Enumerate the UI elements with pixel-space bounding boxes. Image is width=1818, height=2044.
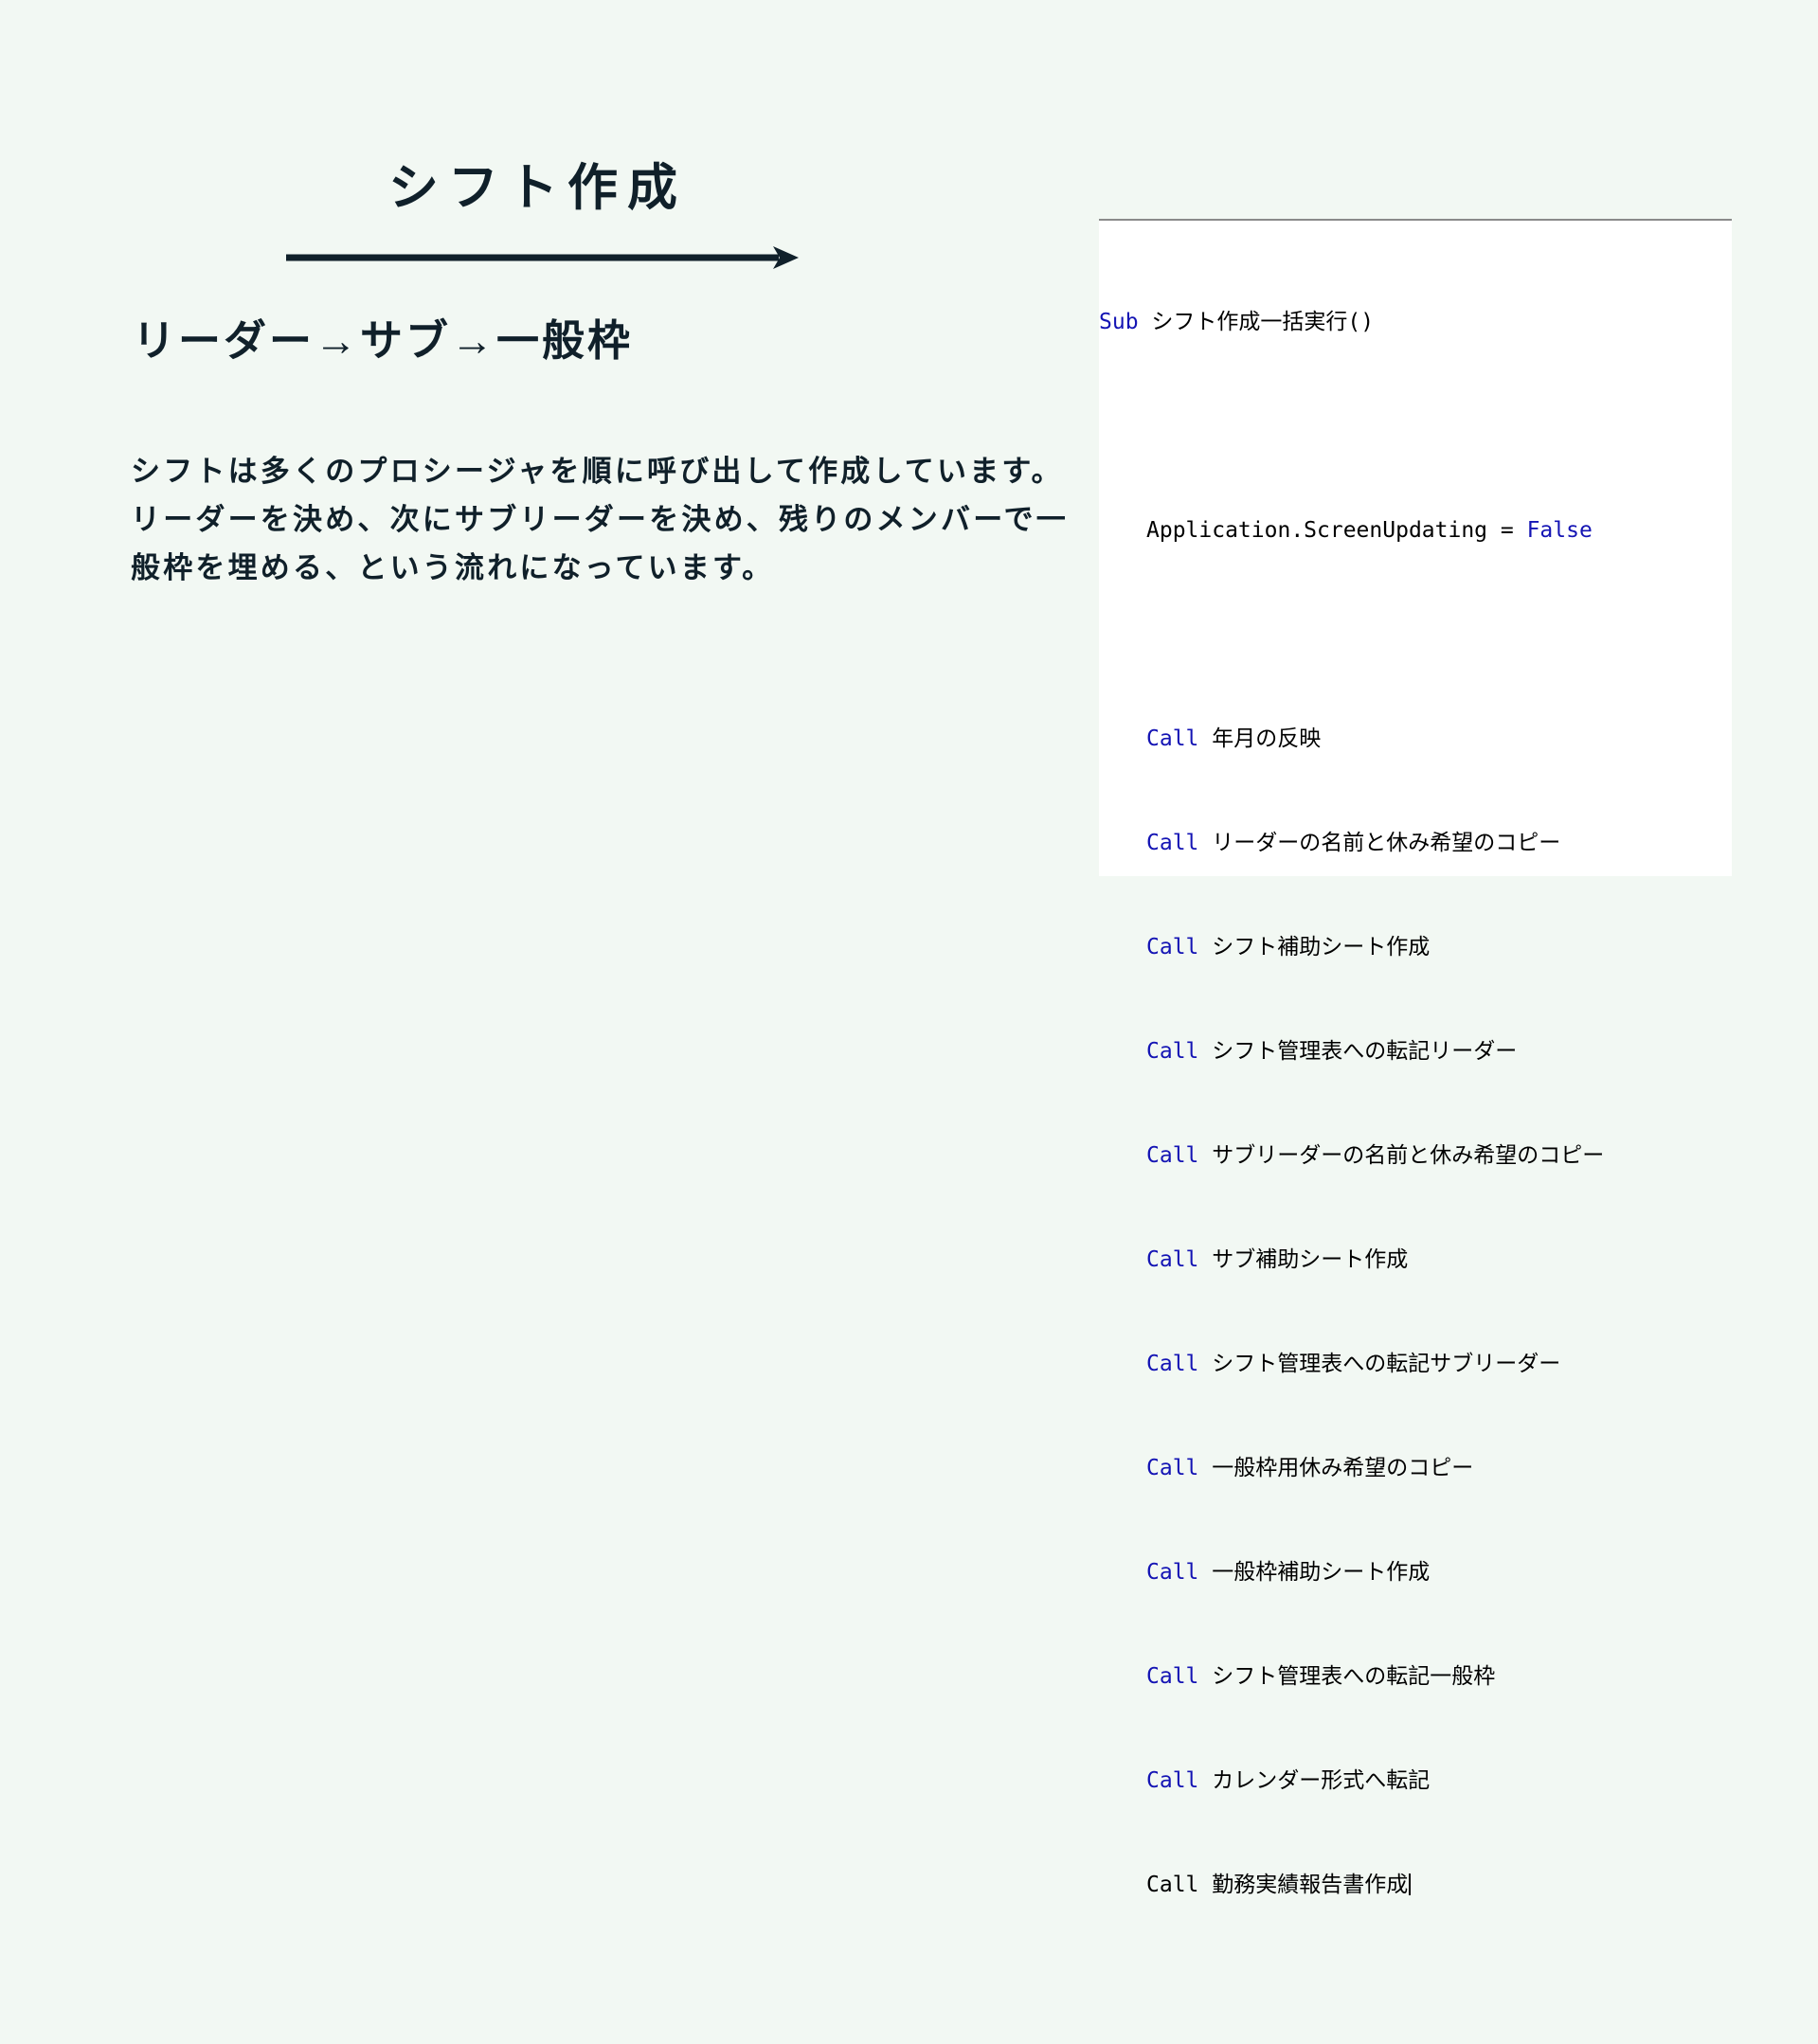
code-line-call-9: Call 一般枠補助シート作成 xyxy=(1099,1560,1732,1587)
call-target: サブ補助シート作成 xyxy=(1198,1247,1408,1272)
keyword-call: Call xyxy=(1146,1039,1198,1064)
code-line-call-10: Call シフト管理表への転記一般枠 xyxy=(1099,1664,1732,1691)
code-line-call-1: Call 年月の反映 xyxy=(1099,726,1732,753)
code-listing[interactable]: Sub シフト作成一括実行() Application.ScreenUpdati… xyxy=(1099,221,1732,2044)
keyword-call: Call xyxy=(1146,1768,1198,1793)
page-title: シフト作成 xyxy=(388,163,687,213)
code-line-call-5: Call サブリーダーの名前と休み希望のコピー xyxy=(1099,1143,1732,1170)
call-target: 年月の反映 xyxy=(1198,726,1321,751)
text-cursor xyxy=(1409,1874,1411,1895)
keyword-call: Call xyxy=(1146,1247,1198,1272)
vba-code-panel[interactable]: Sub シフト作成一括実行() Application.ScreenUpdati… xyxy=(1099,219,1732,876)
code-line-call-11: Call カレンダー形式へ転記 xyxy=(1099,1768,1732,1795)
code-line-blank xyxy=(1099,414,1732,440)
call-target: 一般枠補助シート作成 xyxy=(1198,1560,1430,1585)
keyword-call: Call xyxy=(1146,1664,1198,1689)
description-line-2: リーダーを決め、次にサブリーダーを決め、残りのメンバーで一 xyxy=(131,495,1059,544)
call-target: 一般枠用休み希望のコピー xyxy=(1198,1456,1473,1480)
keyword-call: Call xyxy=(1146,1456,1198,1480)
keyword-call: Call xyxy=(1146,935,1198,959)
code-line-call-7: Call シフト管理表への転記サブリーダー xyxy=(1099,1352,1732,1378)
call-target: リーダーの名前と休み希望のコピー xyxy=(1198,831,1560,855)
code-line-blank xyxy=(1099,622,1732,649)
call-target: シフト管理表への転記一般枠 xyxy=(1198,1664,1495,1689)
code-line-screenupdating-false: Application.ScreenUpdating = False xyxy=(1099,518,1732,545)
keyword-call: Call xyxy=(1146,726,1198,751)
call-target: シフト管理表への転記リーダー xyxy=(1198,1039,1517,1064)
description-line-1: シフトは多くのプロシージャを順に呼び出して作成しています。 xyxy=(131,447,1059,495)
statement-text: Application.ScreenUpdating = xyxy=(1146,518,1527,543)
procedure-name: シフト作成一括実行() xyxy=(1139,310,1375,334)
description-paragraph: シフトは多くのプロシージャを順に呼び出して作成しています。 リーダーを決め、次に… xyxy=(131,447,1059,592)
call-target: カレンダー形式へ転記 xyxy=(1198,1768,1430,1793)
code-line-call-12-active[interactable]: Call 勤務実績報告書作成 xyxy=(1099,1873,1732,1899)
keyword-call: Call xyxy=(1146,1352,1198,1376)
code-line-call-4: Call シフト管理表への転記リーダー xyxy=(1099,1039,1732,1066)
call-target: シフト管理表への転記サブリーダー xyxy=(1198,1352,1560,1376)
active-call-line: Call 勤務実績報告書作成 xyxy=(1146,1873,1408,1897)
keyword-call: Call xyxy=(1146,831,1198,855)
keyword-false: False xyxy=(1527,518,1593,543)
keyword-sub: Sub xyxy=(1099,310,1139,334)
explanation-panel: シフト作成 リーダー→サブ→一般枠 シフトは多くのプロシージャを順に呼び出して作… xyxy=(0,0,1089,1022)
code-line-blank xyxy=(1099,1977,1732,2003)
keyword-call: Call xyxy=(1146,1560,1198,1585)
call-target: シフト補助シート作成 xyxy=(1198,935,1430,959)
description-line-3: 般枠を埋める、という流れになっています。 xyxy=(131,544,1059,592)
code-line-call-2: Call リーダーの名前と休み希望のコピー xyxy=(1099,831,1732,857)
code-line-call-8: Call 一般枠用休み希望のコピー xyxy=(1099,1456,1732,1482)
code-line-sub-declaration: Sub シフト作成一括実行() xyxy=(1099,310,1732,336)
right-arrow-icon xyxy=(284,244,801,271)
call-target: サブリーダーの名前と休み希望のコピー xyxy=(1198,1143,1604,1168)
keyword-call: Call xyxy=(1146,1143,1198,1168)
flow-subtitle: リーダー→サブ→一般枠 xyxy=(133,319,633,362)
code-line-call-6: Call サブ補助シート作成 xyxy=(1099,1247,1732,1274)
code-line-call-3: Call シフト補助シート作成 xyxy=(1099,935,1732,961)
